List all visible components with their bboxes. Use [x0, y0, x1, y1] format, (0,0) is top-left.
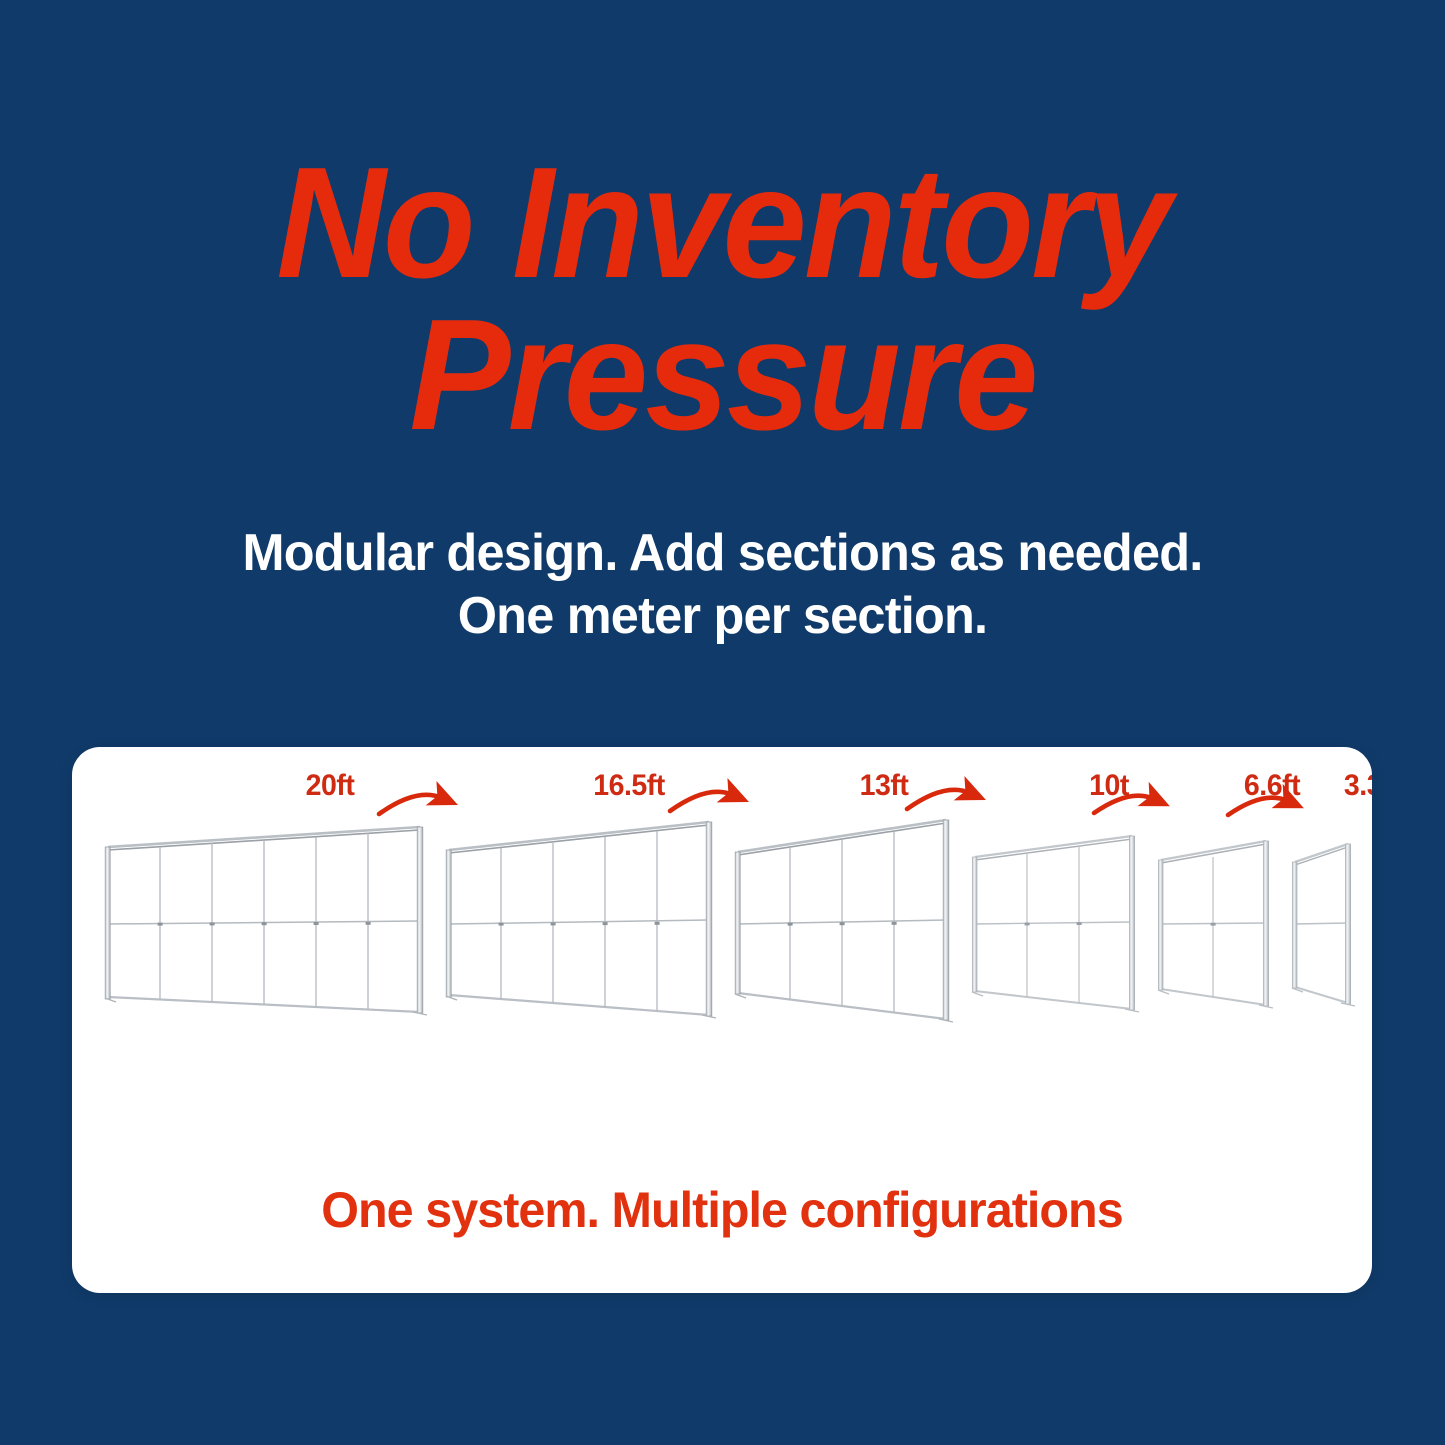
subtitle-line-1: Modular design. Add sections as needed.: [22, 522, 1424, 585]
frame-3-3ft: [1292, 844, 1355, 1006]
arrow-20-to-16: [379, 795, 442, 814]
size-label-3-3ft: 3.3ft: [1344, 769, 1372, 803]
frame-6-6ft: [1158, 841, 1273, 1008]
frame-10ft: [972, 836, 1139, 1012]
frame-20ft: [105, 827, 427, 1015]
arrow-16-to-13: [670, 792, 733, 811]
size-label-20ft: 20ft: [306, 769, 355, 803]
size-label-13ft: 13ft: [860, 769, 909, 803]
arrow-13-to-10: [907, 790, 970, 809]
size-label-16-5ft: 16.5ft: [593, 769, 665, 803]
headline-line-2: Pressure: [29, 300, 1416, 452]
subtitle: Modular design. Add sections as needed. …: [22, 522, 1424, 649]
frames-diagram: 20ft 16.5ft 13ft 10t 6.6ft 3.3ft: [72, 747, 1372, 1177]
headline-line-1: No Inventory: [29, 148, 1416, 300]
frame-13ft: [735, 820, 953, 1022]
poster-canvas: No Inventory Pressure Modular design. Ad…: [0, 0, 1445, 1445]
size-label-6-6ft: 6.6ft: [1244, 769, 1300, 803]
subtitle-line-2: One meter per section.: [22, 585, 1424, 648]
card-caption: One system. Multiple configurations: [92, 1181, 1353, 1239]
page-title: No Inventory Pressure: [29, 148, 1416, 451]
configuration-card: 20ft 16.5ft 13ft 10t 6.6ft 3.3ft One sys…: [72, 747, 1372, 1293]
frames-svg: [72, 747, 1372, 1177]
size-label-10ft: 10t: [1089, 769, 1129, 803]
frame-16-5ft: [446, 822, 716, 1018]
